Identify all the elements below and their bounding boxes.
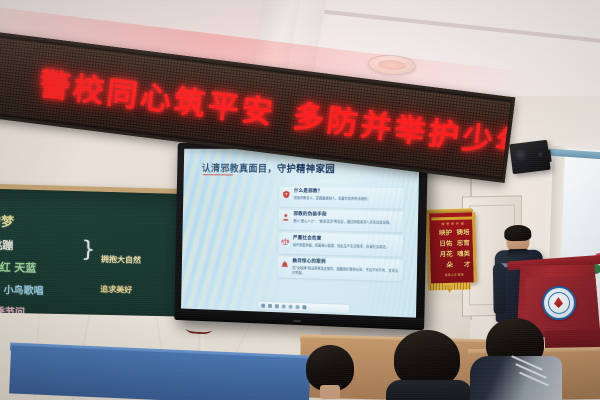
slide-title-underline: [202, 174, 233, 176]
student-front-left: [300, 345, 366, 400]
person-trap-icon: [282, 213, 291, 222]
slide-card: 触目惊心的案例 如"全能神"招远案等真实案件，提醒我们警钟长鸣：不信不听不传，发…: [277, 256, 402, 281]
pennant-signature: 某某小学 敬赠: [437, 272, 472, 277]
slide-card: 什么是邪教？ 冒用宗教名义，蒙蔽蛊惑他人，危害社会的非法组织。: [279, 187, 404, 209]
student-front-right: [470, 318, 562, 400]
chalk-line-1: 彩色的梦: [0, 210, 14, 230]
chalk-brace: }: [81, 237, 96, 262]
classroom-blackboard: 彩色的梦 聊天 跳蹦 草绿 花红 天蓝 雪松拉手 小鸟歌唱 水果香 季节问 } …: [0, 183, 197, 335]
officer-collar: [508, 249, 529, 258]
alarm-bell-icon: [281, 260, 290, 269]
blackboard-surface: 彩色的梦 聊天 跳蹦 草绿 花红 天蓝 雪松拉手 小鸟歌唱 水果香 季节问 } …: [0, 188, 192, 328]
pennant-header: 赠 警 民 共 建: [439, 222, 466, 228]
student-front-center: [386, 330, 472, 400]
display-power-cable: [186, 321, 213, 334]
card-body: 如"全能神"招远案等真实案件，提醒我们警钟长鸣：不信不听不传，发现及时举报。: [292, 266, 399, 279]
chalk-line-3: 草绿 花红 天蓝: [0, 258, 37, 276]
zoom-out-icon[interactable]: [288, 304, 293, 309]
notes-icon[interactable]: [268, 304, 272, 309]
led-banner-line2: 多防并举护少年: [291, 99, 511, 165]
officer-arm: [493, 263, 506, 315]
classroom-photo-scene: 赠 警 民 共 建 护 佑 花 朵 映 日 月 培 育 英 才 铸 忠 魂 某某…: [0, 0, 600, 400]
pennant-body: 赠 警 民 共 建 护 佑 花 朵 映 日 月 培 育 英 才 铸 忠 魂 某某…: [426, 212, 477, 283]
display-screen[interactable]: 认清邪教真面目，守护精神家园 什么是邪教？ 冒用宗教名义，蒙蔽蛊惑他人，危害社会…: [181, 149, 420, 318]
slide-card-list: 什么是邪教？ 冒用宗教名义，蒙蔽蛊惑他人，危害社会的非法组织。 邪教的伪装手段 …: [277, 187, 404, 285]
pennant-top-trim: [431, 216, 474, 220]
slide-title: 认清邪教真面目，守护精神家园: [202, 161, 336, 176]
chalk-note-1: 拥抱大自然: [101, 254, 141, 266]
student-neck: [320, 385, 340, 399]
pennant-column-left: 培 育 英 才 铸 忠 魂: [455, 228, 469, 272]
pennant-columns: 护 佑 花 朵 映 日 月 培 育 英 才 铸 忠 魂: [435, 228, 471, 273]
slide-card: 邪教的伪装手段 假以"爱心人士"、"慈善活动"等名目，通过网络或熟人关系拉拢发展…: [278, 210, 403, 233]
wall-display[interactable]: 认清邪教真面目，守护精神家园 什么是邪教？ 冒用宗教名义，蒙蔽蛊惑他人，危害社会…: [174, 143, 428, 330]
scales-icon: [281, 236, 290, 245]
chalk-note-2: 追求美好: [100, 284, 132, 296]
led-banner-line1: 警校同心筑平安: [37, 66, 278, 132]
card-body: 假以"爱心人士"、"慈善活动"等名目，通过网络或熟人关系拉拢发展。: [293, 219, 400, 226]
display-brand-logo: [293, 320, 301, 322]
shield-icon: [282, 190, 291, 199]
laser-pointer-icon[interactable]: [282, 304, 287, 309]
student-shoulders: [386, 380, 472, 400]
wall-speaker: [509, 140, 550, 174]
fit-icon[interactable]: [302, 305, 307, 310]
officer-hair: [504, 225, 531, 241]
slide-card: 严重社会危害 破坏家庭幸福，损害身心健康，扰乱生产生活秩序，危害社会稳定。: [278, 233, 403, 256]
slide-show-icon[interactable]: [261, 303, 265, 308]
pennant-column-right: 护 佑 花 朵 映 日 月: [438, 229, 452, 273]
chalk-line-2: 聊天 跳蹦: [0, 236, 13, 253]
card-body: 冒用宗教名义，蒙蔽蛊惑他人，危害社会的非法组织。: [294, 196, 401, 202]
appreciation-pennant: 赠 警 民 共 建 护 佑 花 朵 映 日 月 培 育 英 才 铸 忠 魂 某某…: [424, 208, 473, 289]
chalk-line-4: 雪松拉手 小鸟歌唱: [0, 280, 44, 297]
pen-icon[interactable]: [275, 304, 279, 309]
zoom-in-icon[interactable]: [295, 305, 300, 310]
